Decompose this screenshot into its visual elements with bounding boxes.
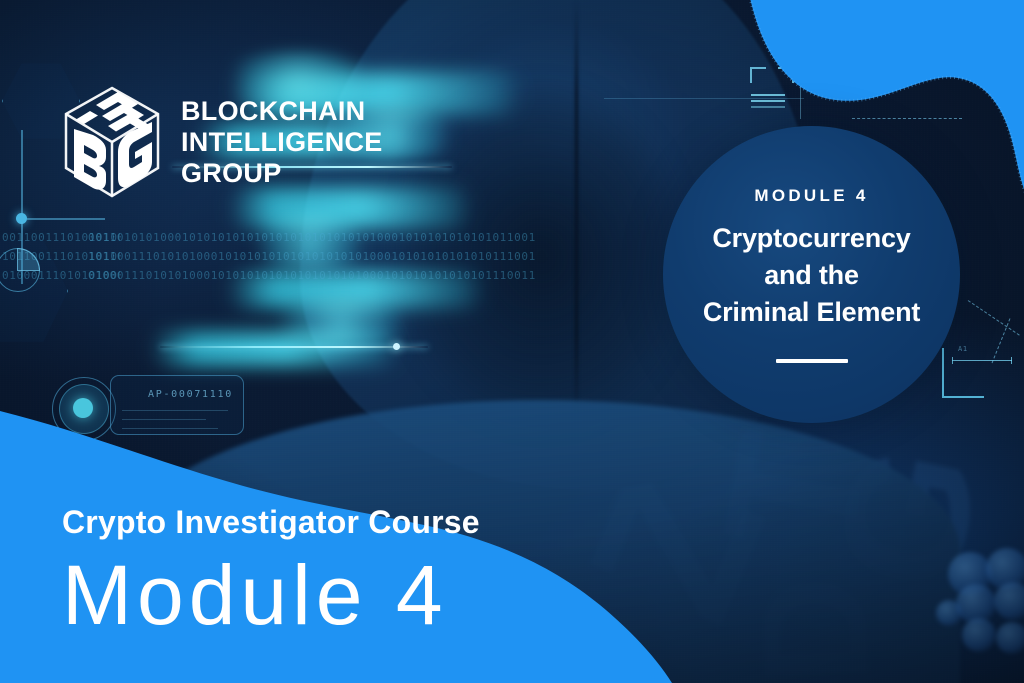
course-title-block: Crypto Investigator Course Module 4 (62, 504, 480, 643)
logo-word-line-2: INTELLIGENCE (181, 127, 383, 158)
logo-word-line-1: BLOCKCHAIN (181, 96, 383, 127)
brand-logo-wordmark: BLOCKCHAIN INTELLIGENCE GROUP (181, 96, 383, 189)
badge-module-title: Cryptocurrency and the Criminal Element (689, 220, 934, 331)
bokeh-circle-7 (936, 600, 962, 626)
binary-line: 0011010101000101010101010101010101010101… (88, 228, 608, 247)
bokeh-circle-6 (996, 622, 1024, 654)
badge-title-line-2: and the (703, 257, 920, 294)
hud-corner-bracket (942, 348, 984, 398)
binary-line: 1011001110101010001010101010101010101010… (88, 247, 608, 266)
binary-line: 0100011101010100010101010101010101010100… (88, 266, 608, 285)
brand-logo[interactable]: BLOCKCHAIN INTELLIGENCE GROUP (60, 84, 383, 200)
scanline-2 (160, 346, 428, 348)
scanline-endpoint (393, 343, 400, 350)
bokeh-circle-5 (962, 618, 996, 652)
badge-title-line-1: Cryptocurrency (703, 220, 920, 257)
badge-divider-rule (776, 359, 848, 363)
binary-text-main: 0011010101000101010101010101010101010101… (88, 228, 608, 288)
badge-title-line-3: Criminal Element (703, 294, 920, 331)
badge-module-number: MODULE 4 (754, 186, 868, 206)
hud-measure-line (952, 360, 1012, 361)
course-module-banner: Z T G D E A 0011001110101010001010101 10… (0, 0, 1024, 683)
hud-connector-vertical-upper (21, 130, 23, 218)
glow-bar-5 (150, 332, 400, 366)
module-badge: MODULE 4 Cryptocurrency and the Criminal… (663, 126, 960, 423)
logo-word-line-3: GROUP (181, 158, 383, 189)
hud-connector-horizontal (27, 218, 105, 220)
hud-measure-label: A1 (958, 345, 968, 354)
course-name: Crypto Investigator Course (62, 504, 480, 541)
blockchain-intelligence-group-cube-icon (60, 84, 164, 200)
bokeh-circle-4 (994, 582, 1024, 620)
module-name: Module 4 (62, 547, 480, 643)
hood-crease (575, 0, 578, 420)
